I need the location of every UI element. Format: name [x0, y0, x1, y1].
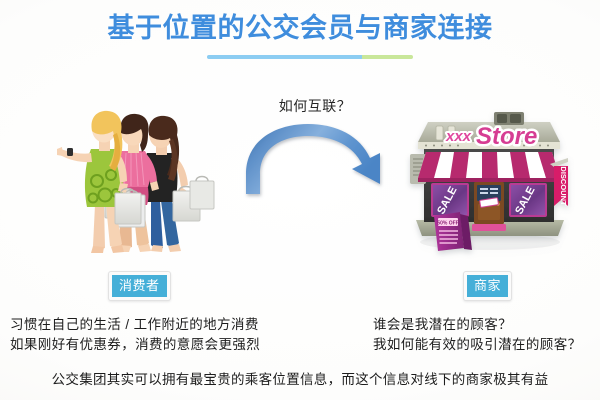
status-badge-consumer: 消费者: [108, 271, 171, 301]
consumer-description-line-2: 如果刚好有优惠券，消费的意愿会更强烈: [10, 335, 260, 355]
consumer-description: 习惯在自己的生活 / 工作附近的地方消费 如果刚好有优惠券，消费的意愿会更强烈: [10, 315, 260, 355]
shopping-bag: [173, 177, 214, 222]
curved-arrow-right-icon: [232, 122, 402, 202]
a-frame-sign-text: 50% OFF: [437, 221, 458, 227]
a-frame-sign: 50% OFF: [434, 212, 472, 251]
slide-canvas: 基于位置的公交会员与商家连接: [0, 0, 600, 400]
title-rule-blue-segment: [207, 55, 362, 59]
store-door: [472, 182, 506, 231]
title-rule-green-segment: [362, 55, 413, 59]
store-sign-word: Store: [476, 123, 537, 150]
store-window-left: SALE: [432, 184, 468, 216]
status-badge-consumer-label: 消费者: [112, 275, 167, 297]
store-window-right: SALE: [510, 184, 546, 216]
retail-store-illustration: xxx xxx Store Store: [398, 108, 578, 260]
shopping-bag: [115, 189, 141, 225]
merchant-description-line-2: 我如何能有效的吸引潜在的顾客？: [373, 335, 582, 355]
status-badge-merchant-label: 商家: [467, 275, 508, 297]
footnote-text: 公交集团其实可以拥有最宝贵的乘客位置信息，而这个信息对线下的商家极其有益: [0, 370, 600, 390]
merchant-description: 谁会是我潜在的顾客？ 我如何能有效的吸引潜在的顾客？: [373, 315, 582, 355]
store-sign-prefix: xxx: [445, 128, 472, 145]
status-badge-merchant: 商家: [463, 271, 512, 301]
page-title: 基于位置的公交会员与商家连接: [0, 10, 600, 46]
consumer-description-line-1: 习惯在自己的生活 / 工作附近的地方消费: [10, 315, 260, 335]
connection-question-label: 如何互联？: [235, 96, 395, 116]
store-awning: [418, 152, 560, 182]
women-shoppers-illustration: [55, 105, 245, 260]
merchant-description-line-1: 谁会是我潜在的顾客？: [373, 315, 582, 335]
title-underline-rule: [207, 55, 413, 59]
discount-banner-text: DISCOUNT: [559, 166, 568, 206]
